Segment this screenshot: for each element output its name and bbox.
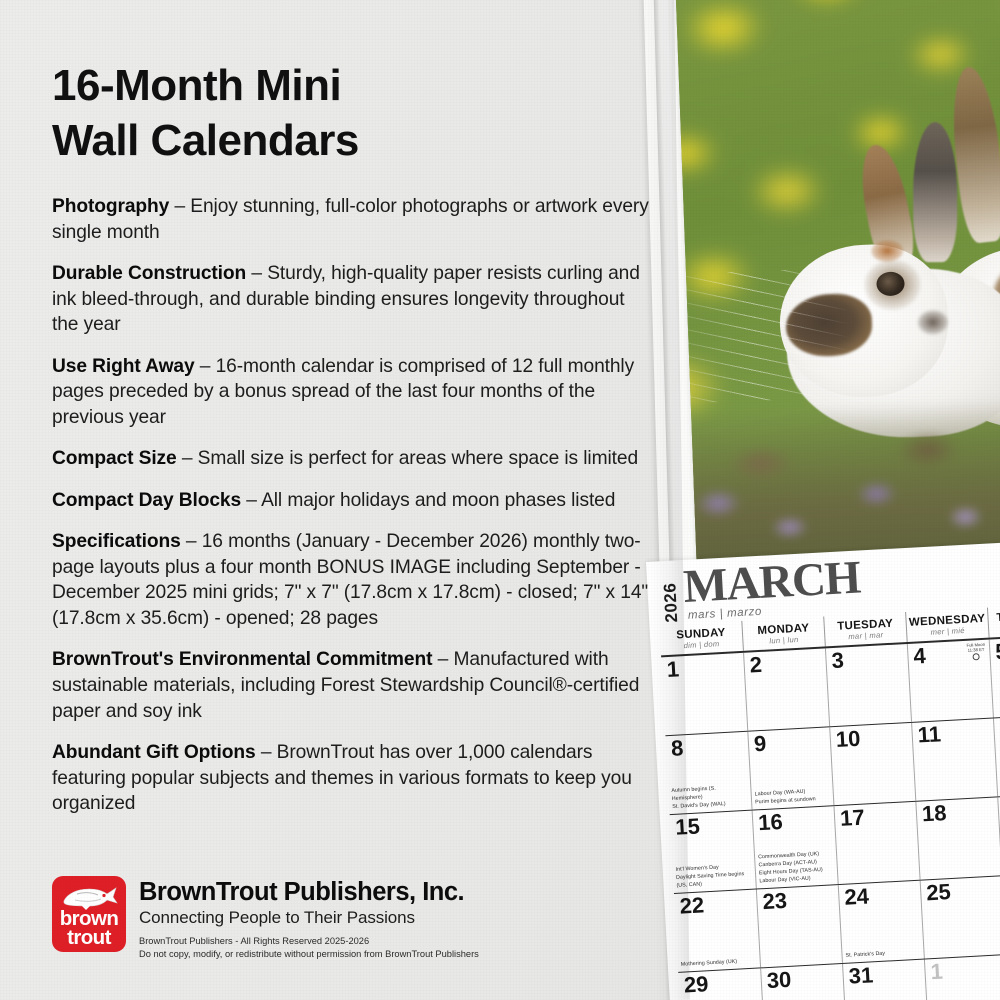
calendar-day-cell[interactable]: 3 [825,644,911,726]
calendar-day-cell[interactable]: 1 [924,955,1000,1000]
feature-dash: – [169,196,190,217]
calendar-day-cell[interactable]: 24St. Patrick's Day [838,881,924,963]
feature-item: Photography – Enjoy stunning, full-color… [52,194,652,245]
feature-dash: – [195,356,216,377]
calendar-day-events: St. Patrick's Day [845,949,920,961]
calendar-day-number: 11 [915,721,991,747]
calendar-day-number: 9 [751,729,827,755]
feature-item: Abundant Gift Options – BrownTrout has o… [52,740,652,817]
info-panel: 16-Month Mini Wall Calendars Photography… [0,0,690,1000]
feature-item: Use Right Away – 16-month calendar is co… [52,354,652,431]
feature-term: Specifications [52,531,181,552]
calendar-day-events: Mothering Sunday (UK) [681,958,757,970]
feature-item: BrownTrout's Environmental Commitment – … [52,647,652,724]
calendar-day-cell[interactable]: 4Full Moon11:38 ET [907,640,993,722]
headline-line-1: 16-Month Mini [52,61,341,110]
feature-dash: – [246,263,267,284]
calendar-day-cell[interactable]: 18 [915,797,1000,879]
moon-phase-marker: Full Moon11:38 ET [966,642,985,661]
feature-term: Photography [52,196,169,217]
full-moon-icon [973,653,980,660]
calendar-day-cell[interactable]: 29 [678,968,764,1000]
calendar-day-number: 1 [928,957,1000,983]
feature-text: All major holidays and moon phases liste… [261,490,615,511]
feature-item: Specifications – 16 months (January - De… [52,529,652,631]
calendar-day-number: 5 [993,637,1000,663]
calendar-day-cell[interactable]: 16Commonwealth Day (UK)Canberra Day (ACT… [752,806,838,888]
calendar-event: Mothering Sunday (UK) [681,958,757,970]
calendar-day-number: 16 [756,808,832,834]
feature-term: Durable Construction [52,263,246,284]
calendar-day-number: 2 [747,651,823,677]
rabbit-photo [675,0,1000,581]
calendar-day-cell[interactable]: 25 [920,876,1000,958]
calendar-day-events: Commonwealth Day (UK)Canberra Day (ACT-A… [758,851,835,887]
calendar-day-number: 24 [842,883,918,909]
calendar-day-number: 30 [764,966,840,992]
calendar-product-mockup: 2026 MARCH mars | marzo SUNDAYdim | domM… [640,0,1000,1000]
feature-item: Compact Size – Small size is perfect for… [52,446,652,472]
calendar-day-number: 10 [833,725,909,751]
calendar-day-header: WEDNESDAYmer | mié [905,608,989,642]
calendar-day-number: 29 [681,971,758,997]
calendar-day-number: 3 [829,646,905,672]
calendar-day-header: TUESDAYmar | mar [823,612,907,646]
calendar-day-header: MONDAYlun | lun [741,616,825,650]
calendar-week-rows: 1234Full Moon11:38 ET58Autumn begins (S.… [661,635,1000,1000]
calendar-day-cell[interactable]: 30 [760,964,846,1000]
calendar-day-number: 23 [760,887,836,913]
feature-text: Small size is perfect for areas where sp… [198,448,638,469]
feature-term: Compact Size [52,448,177,469]
day-header-name: THURSDAY [988,608,1000,624]
feature-dash: – [256,742,277,763]
calendar-day-cell[interactable]: 31 [842,960,928,1000]
feature-term: Use Right Away [52,356,195,377]
calendar-day-number: 25 [924,878,1000,904]
calendar-day-cell[interactable]: 23 [756,885,842,967]
whiskers [675,267,851,404]
calendar-day-events: Labour Day (WA-AU)Purim begins at sundow… [755,788,831,808]
headline-line-2: Wall Calendars [52,116,359,165]
moon-phase-time: 11:38 ET [967,647,986,653]
calendar-grid-page: 2026 MARCH mars | marzo SUNDAYdim | domM… [646,539,1000,1000]
calendar-day-header: THURSDAYjeu | jue [987,603,1000,637]
feature-term: BrownTrout's Environmental Commitment [52,649,432,670]
product-marketing-page: 2026 MARCH mars | marzo SUNDAYdim | domM… [0,0,1000,1000]
calendar-event: St. Patrick's Day [845,949,920,961]
calendar-day-cell[interactable]: 9Labour Day (WA-AU)Purim begins at sundo… [747,727,833,809]
feature-item: Compact Day Blocks – All major holidays … [52,488,652,514]
calendar-day-number: 31 [846,962,922,988]
feature-item: Durable Construction – Sturdy, high-qual… [52,261,652,338]
calendar-day-cell[interactable]: 11 [911,718,997,800]
feature-dash: – [241,490,261,511]
calendar-day-number: 18 [919,800,995,826]
feature-dash: – [177,448,198,469]
feature-list: Photography – Enjoy stunning, full-color… [52,194,690,817]
feature-dash: – [181,531,202,552]
calendar-day-cell[interactable]: 10 [829,723,915,805]
feature-dash: – [432,649,453,670]
calendar-day-number: 17 [838,804,914,830]
feature-term: Compact Day Blocks [52,490,241,511]
page-title: 16-Month Mini Wall Calendars [52,58,612,168]
calendar-day-cell[interactable]: 17 [833,802,919,884]
feature-term: Abundant Gift Options [52,742,256,763]
calendar-day-cell[interactable]: 2 [743,648,829,730]
calendar-month-name: MARCH [682,557,861,610]
